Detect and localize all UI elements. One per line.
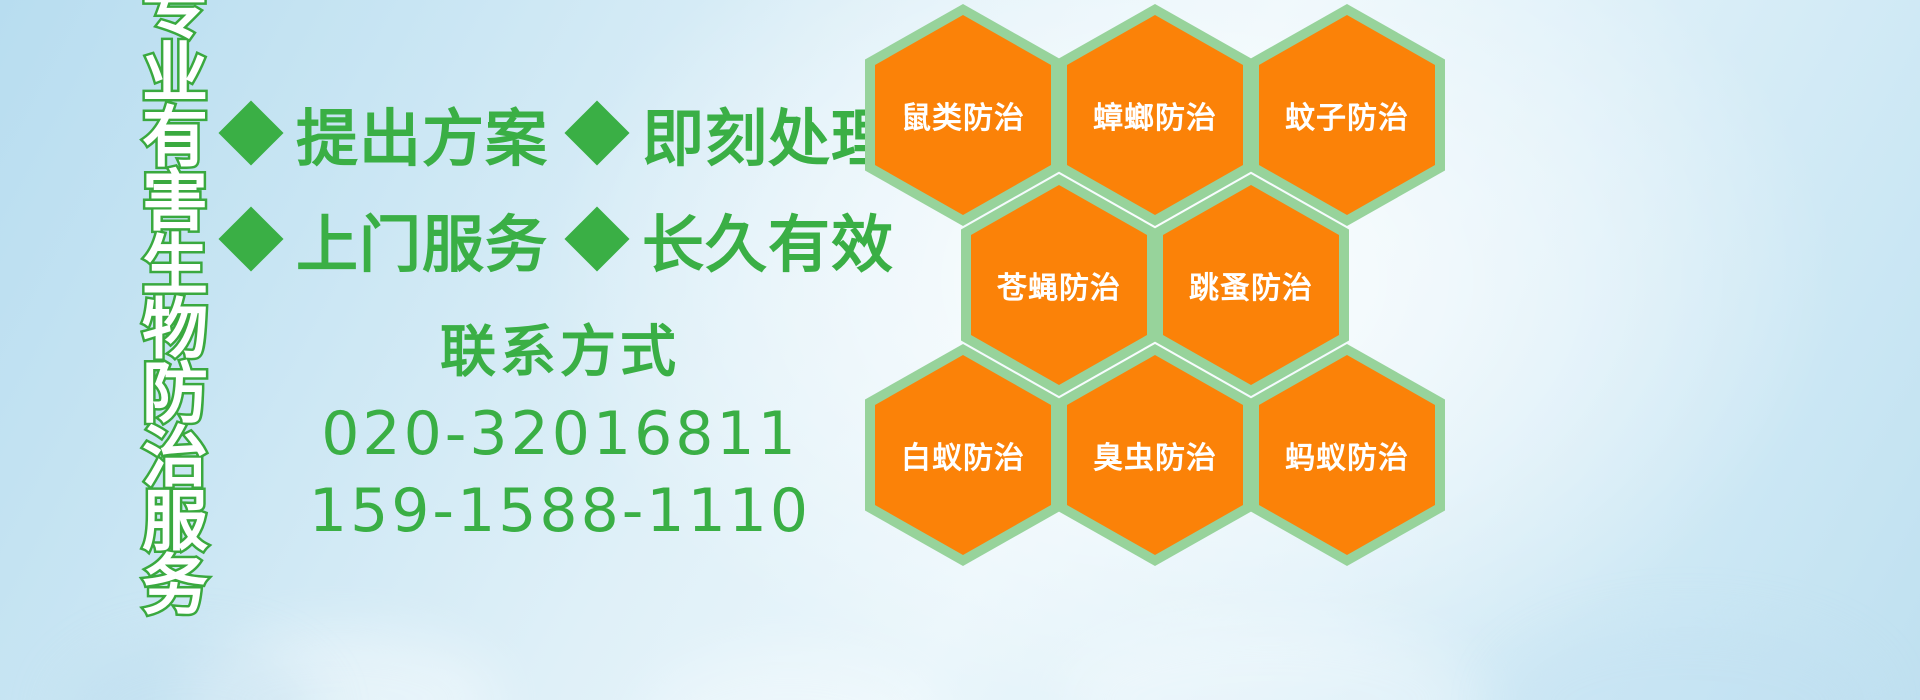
diamond-icon — [564, 100, 629, 165]
contact-title: 联系方式 — [300, 318, 820, 388]
decorative-blob — [640, 650, 940, 700]
phone-number-mobile[interactable]: 159-1588-1110 — [300, 473, 820, 550]
service-hex-inner: 蟑螂防治 — [1067, 15, 1243, 215]
diamond-icon — [564, 206, 629, 271]
service-hex-inner: 跳蚤防治 — [1163, 185, 1339, 385]
feature-item: 即刻处理 — [574, 88, 894, 178]
decorative-blob — [1060, 620, 1480, 700]
decorative-blob — [1500, 620, 1880, 700]
feature-item: 上门服务 — [228, 194, 548, 284]
service-hex-label: 白蚁防治 — [901, 433, 1025, 477]
feature-list: 提出方案 即刻处理 上门服务 长久有效 — [228, 80, 868, 292]
feature-row: 提出方案 即刻处理 — [228, 80, 868, 186]
service-hex-label: 苍蝇防治 — [997, 263, 1121, 307]
contact-block: 联系方式 020-32016811 159-1588-1110 — [300, 318, 820, 550]
feature-row: 上门服务 长久有效 — [228, 186, 868, 292]
service-hex-label: 鼠类防治 — [901, 93, 1025, 137]
service-hex-inner: 苍蝇防治 — [971, 185, 1147, 385]
pest-control-banner: 专业有害生物防治服务 提出方案 即刻处理 上门服务 长久有效 联系方式 0 — [0, 0, 1920, 700]
service-hex-label: 蚊子防治 — [1285, 93, 1409, 137]
service-hex-inner: 蚂蚁防治 — [1259, 355, 1435, 555]
vertical-title: 专业有害生物防治服务 — [104, 14, 200, 574]
feature-item: 长久有效 — [574, 194, 894, 284]
feature-label: 提出方案 — [296, 88, 548, 178]
service-hex-label: 臭虫防治 — [1093, 433, 1217, 477]
feature-label: 上门服务 — [296, 194, 548, 284]
service-hex-cluster: 鼠类防治 蟑螂防治 蚊子防治 苍蝇防治 跳蚤防治 白蚁防治 — [855, 0, 1495, 552]
service-hex-inner: 蚊子防治 — [1259, 15, 1435, 215]
service-hex-label: 蚂蚁防治 — [1285, 433, 1409, 477]
service-hex-inner: 臭虫防治 — [1067, 355, 1243, 555]
service-hex-inner: 白蚁防治 — [875, 355, 1051, 555]
phone-number-landline[interactable]: 020-32016811 — [300, 396, 820, 473]
feature-item: 提出方案 — [228, 88, 548, 178]
decorative-blob — [60, 640, 320, 700]
service-hex-label: 蟑螂防治 — [1093, 93, 1217, 137]
diamond-icon — [218, 100, 283, 165]
service-hex-label: 跳蚤防治 — [1189, 263, 1313, 307]
service-hex-inner: 鼠类防治 — [875, 15, 1051, 215]
diamond-icon — [218, 206, 283, 271]
decorative-blob — [180, 630, 500, 700]
